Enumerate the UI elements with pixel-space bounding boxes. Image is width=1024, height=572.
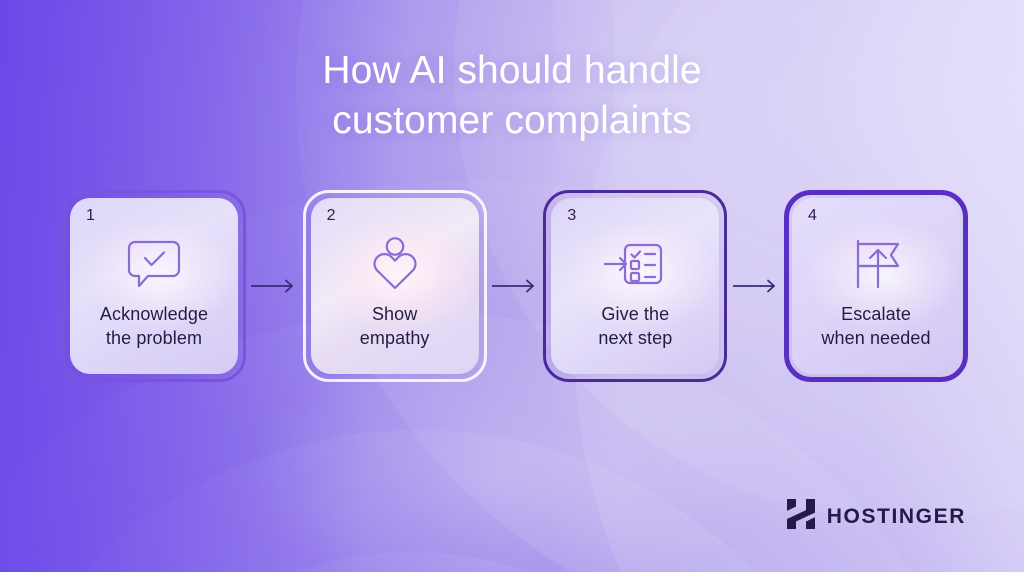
steps-row: 1 Acknowledge the problem (62, 190, 968, 382)
step-number-4: 4 (808, 207, 817, 225)
step-label-3: Give the next step (559, 302, 711, 351)
step-label-4: Escalate when needed (800, 302, 952, 351)
step-card-1-body: 1 Acknowledge the problem (70, 198, 238, 374)
hostinger-logo: HOSTINGER (787, 499, 966, 534)
page-title-line-2: customer complaints (0, 96, 1024, 146)
step-label-1-line-1: Acknowledge (78, 302, 230, 326)
arrow-2-to-3 (487, 276, 544, 296)
flag-arrow-up-icon (792, 226, 960, 302)
arrow-checklist-icon (551, 226, 719, 302)
step-card-4-body: 4 Escalate when needed (792, 198, 960, 374)
speech-bubble-check-icon (70, 226, 238, 302)
step-card-2[interactable]: 2 Show empathy (303, 190, 487, 382)
step-label-4-line-2: when needed (800, 326, 952, 350)
hostinger-wordmark: HOSTINGER (827, 505, 966, 529)
step-number-1: 1 (86, 207, 95, 225)
step-card-4[interactable]: 4 Escalate when needed (784, 190, 968, 382)
page-title: How AI should handle customer complaints (0, 46, 1024, 147)
step-label-4-line-1: Escalate (800, 302, 952, 326)
step-number-3: 3 (567, 207, 576, 225)
page-title-line-1: How AI should handle (0, 46, 1024, 96)
step-label-2-line-2: empathy (319, 326, 471, 350)
infographic-canvas: How AI should handle customer complaints… (0, 0, 1024, 572)
arrow-3-to-4 (727, 276, 784, 296)
step-card-1[interactable]: 1 Acknowledge the problem (62, 190, 246, 382)
step-label-1: Acknowledge the problem (78, 302, 230, 351)
step-number-2: 2 (327, 207, 336, 225)
step-label-1-line-2: the problem (78, 326, 230, 350)
person-heart-icon (311, 226, 479, 302)
step-card-3-body: 3 Give the nex (551, 198, 719, 374)
step-card-3[interactable]: 3 Give the nex (543, 190, 727, 382)
step-label-3-line-2: next step (559, 326, 711, 350)
step-label-2: Show empathy (319, 302, 471, 351)
hostinger-h-logo-icon (787, 499, 815, 534)
step-label-2-line-1: Show (319, 302, 471, 326)
step-label-3-line-1: Give the (559, 302, 711, 326)
step-card-2-body: 2 Show empathy (311, 198, 479, 374)
arrow-1-to-2 (246, 276, 303, 296)
